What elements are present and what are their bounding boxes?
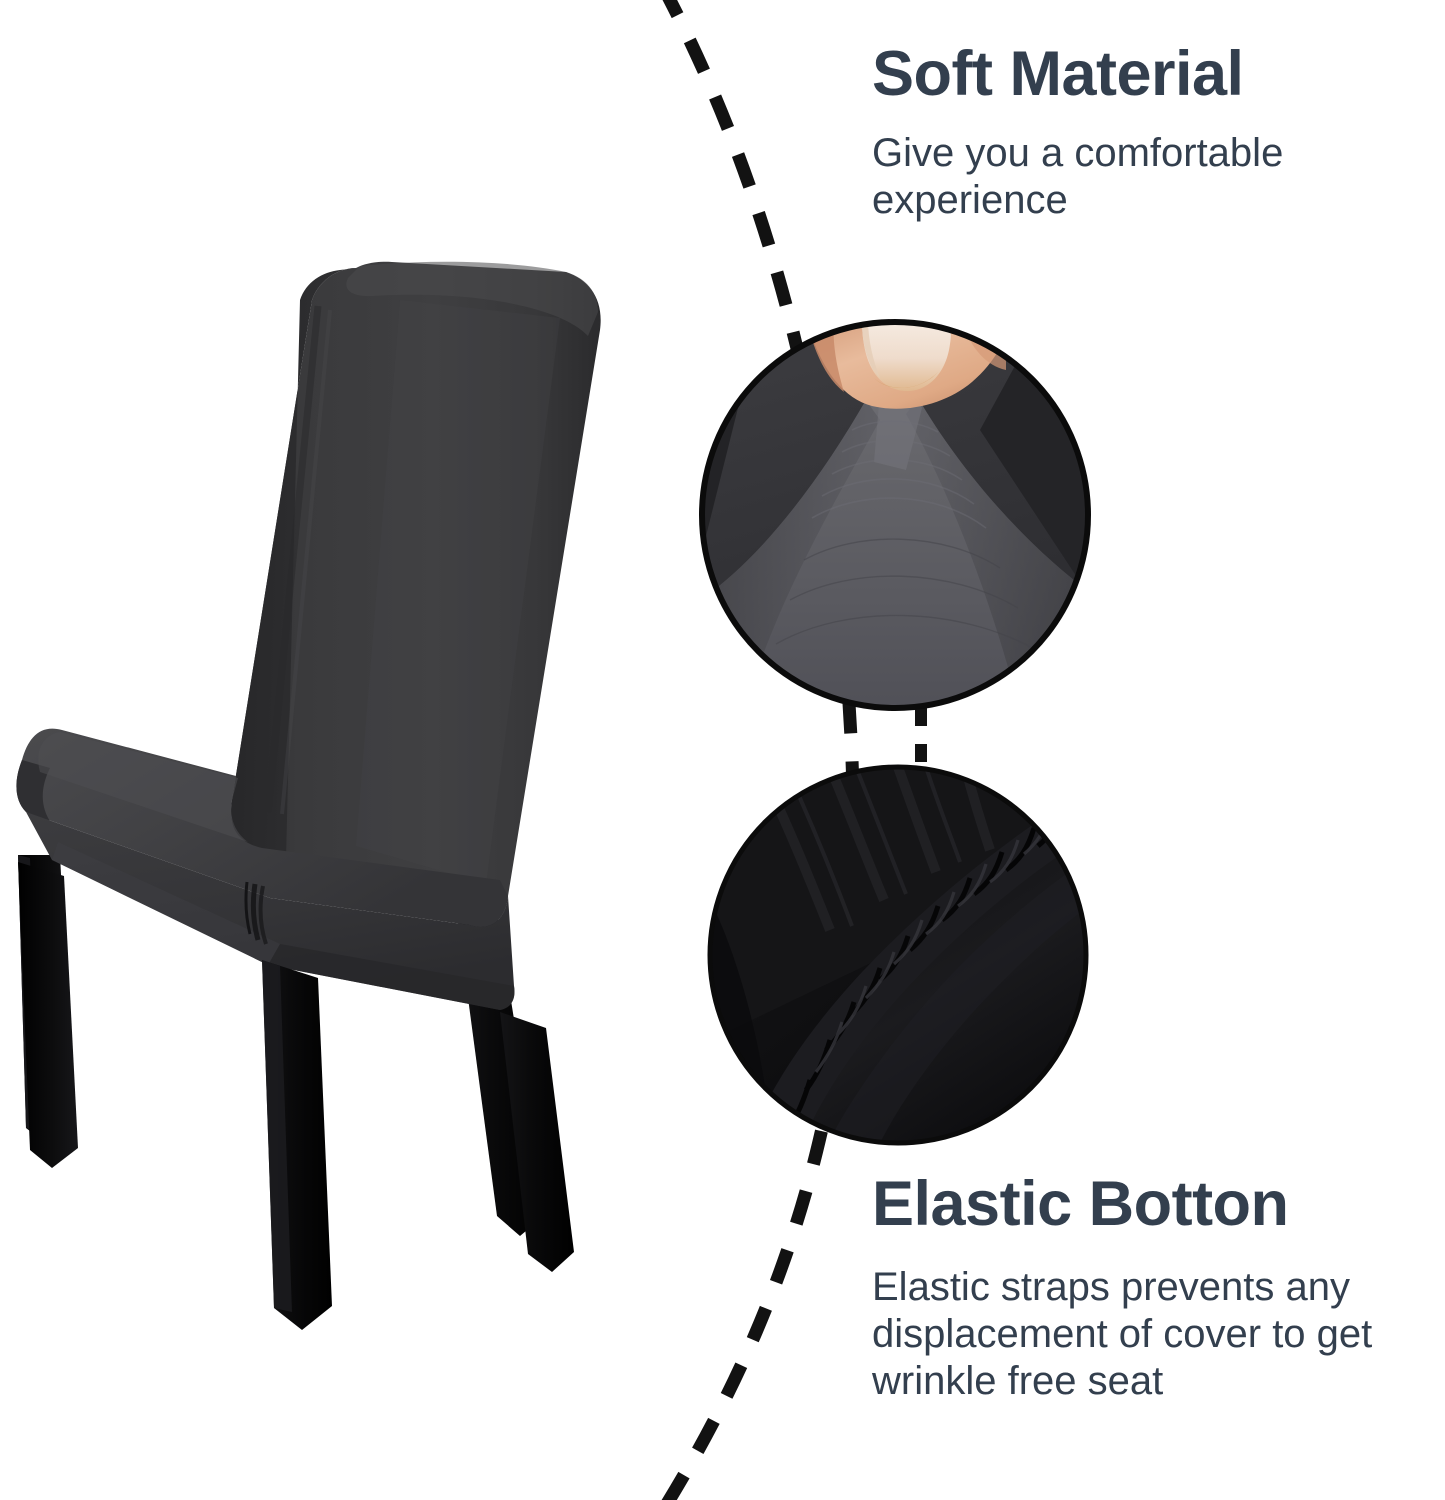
elastic-botton-text-block: Elastic Botton Elastic straps prevents a… xyxy=(872,1172,1432,1405)
elastic-botton-heading: Elastic Botton xyxy=(872,1172,1432,1238)
infographic-canvas: Soft Material Give you a comfortable exp… xyxy=(0,0,1445,1500)
divider-dashed-arc xyxy=(660,0,853,1500)
elastic-botton-photo xyxy=(710,767,1086,1143)
chair-illustration xyxy=(16,262,600,1330)
soft-material-text-block: Soft Material Give you a comfortable exp… xyxy=(872,42,1392,224)
elastic-botton-description: Elastic straps prevents any displacement… xyxy=(872,1264,1432,1406)
chair-leg-front-right xyxy=(262,960,332,1330)
chair-backrest-cover xyxy=(231,262,601,927)
soft-material-photo xyxy=(700,318,1092,712)
soft-material-heading: Soft Material xyxy=(872,42,1392,108)
soft-material-description: Give you a comfortable experience xyxy=(872,130,1392,224)
